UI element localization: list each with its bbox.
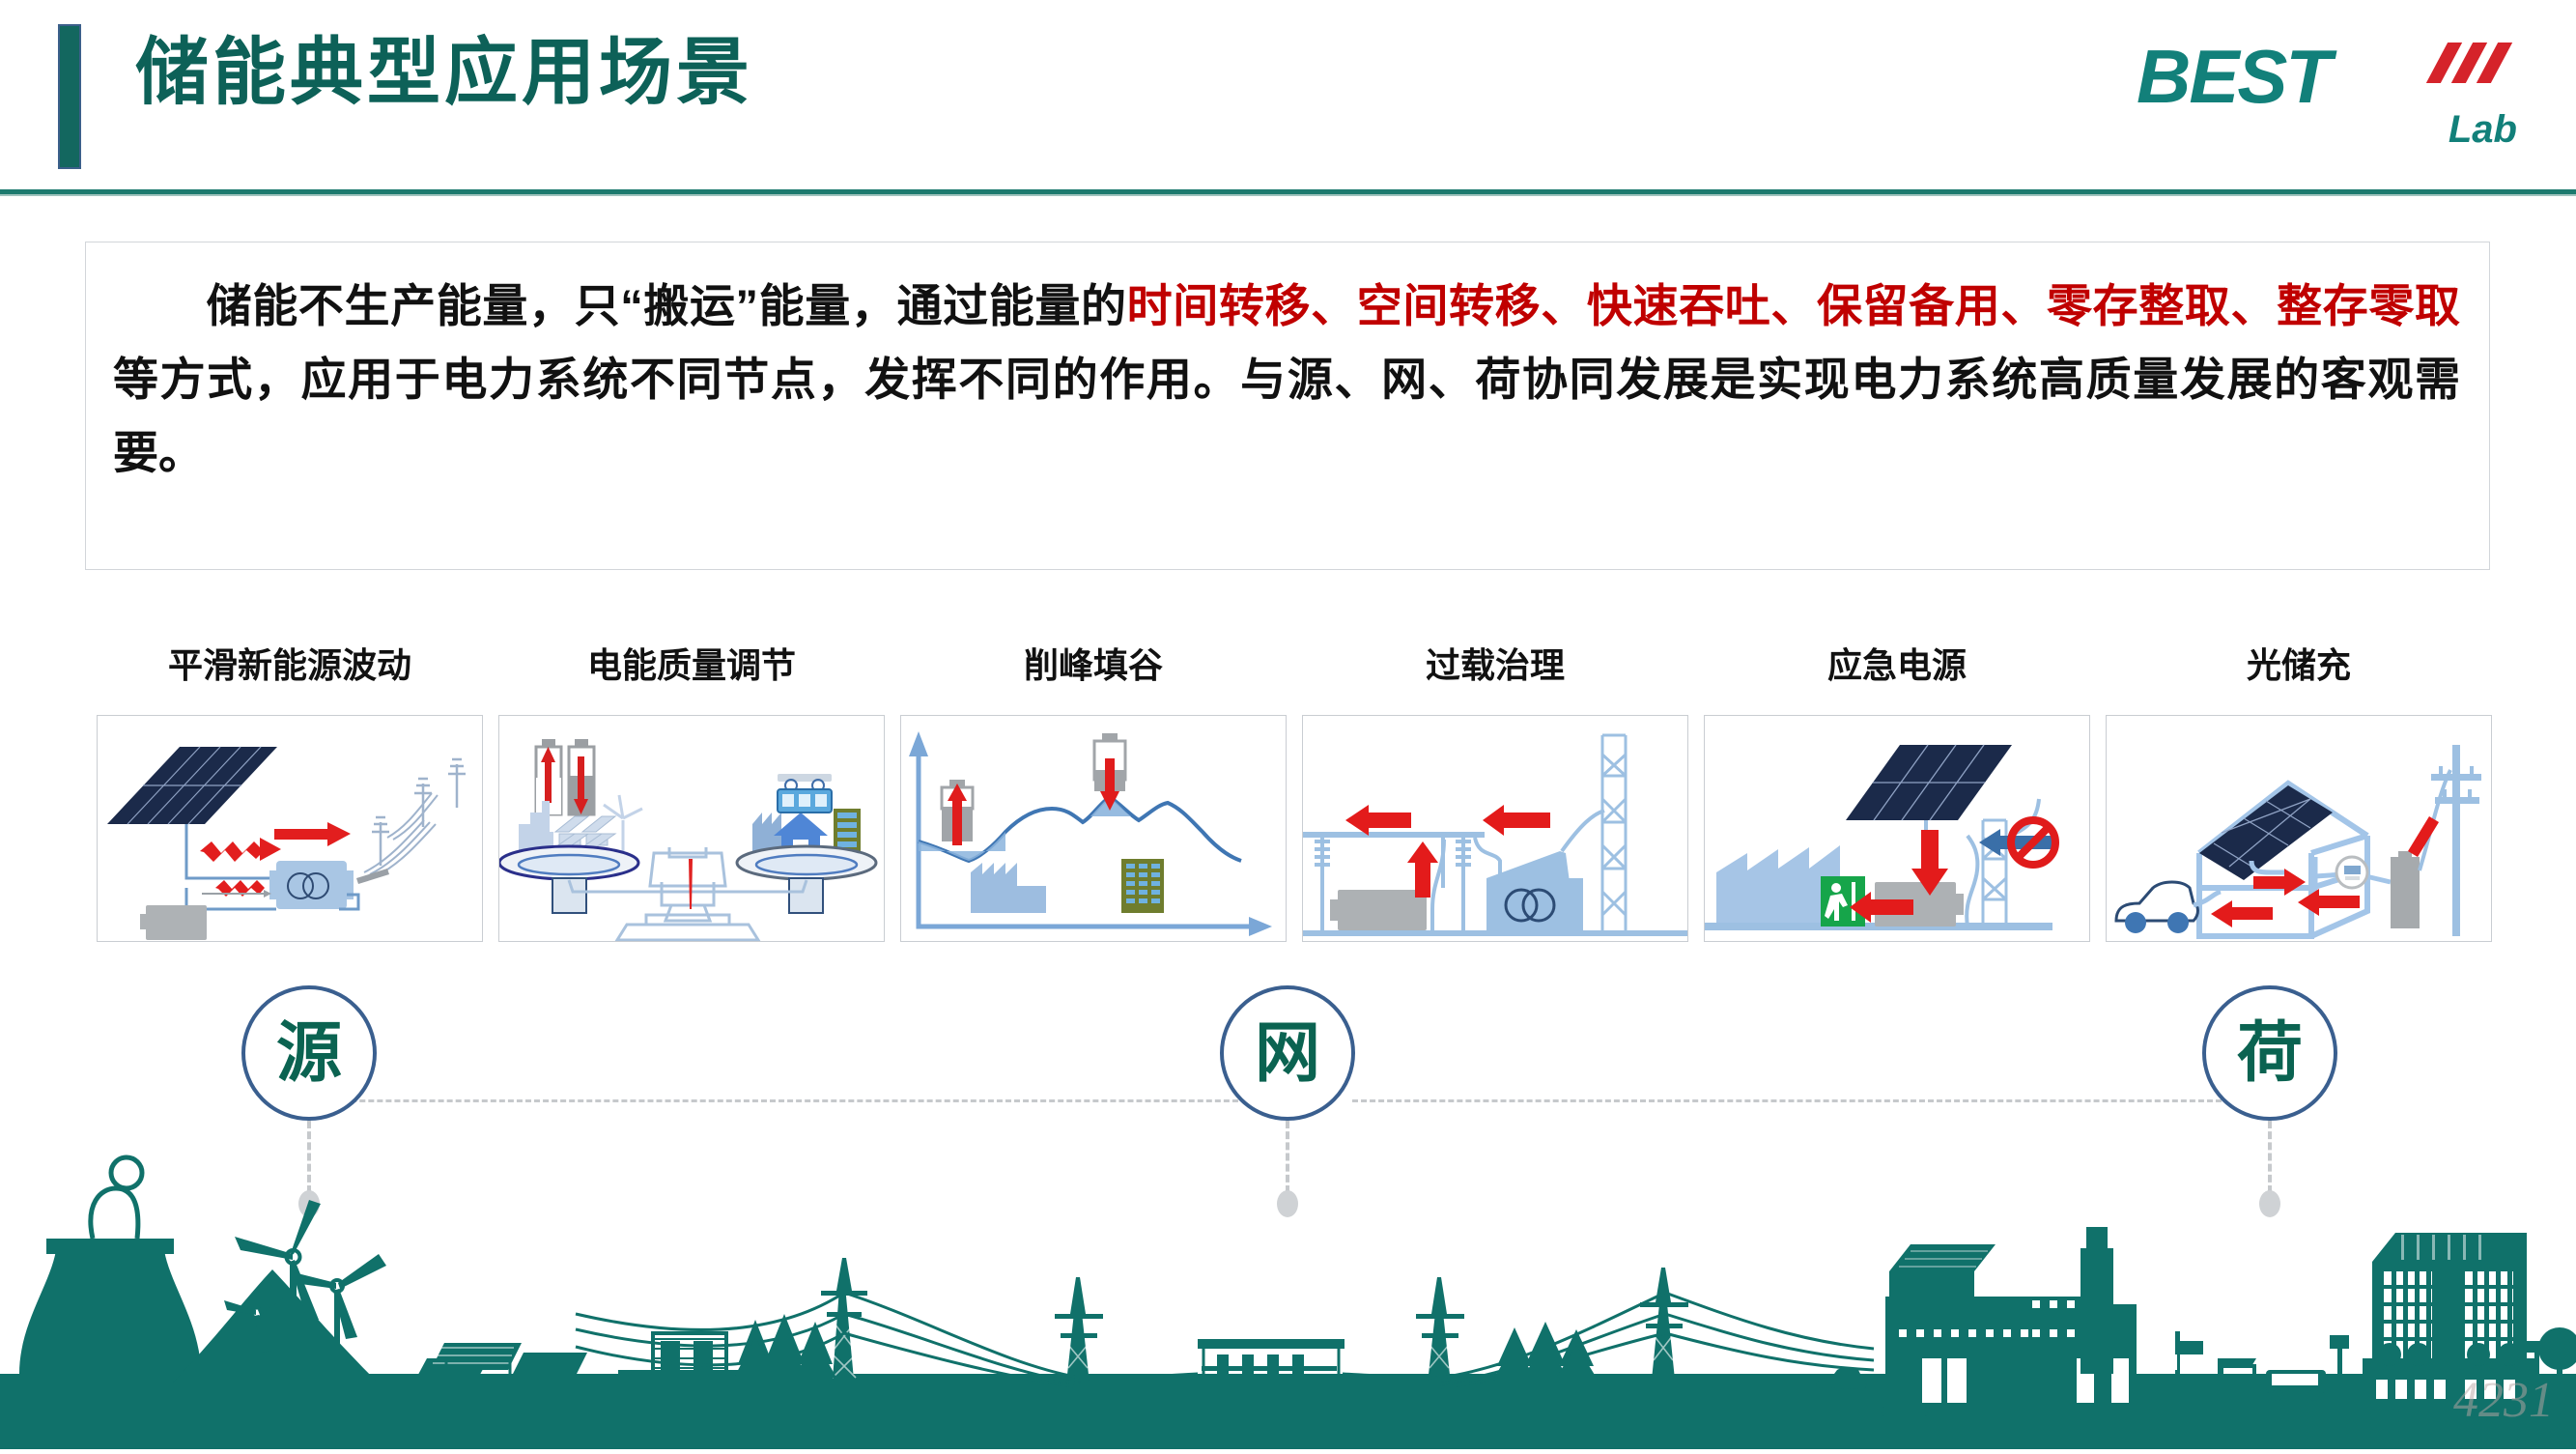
- scenario-card-1[interactable]: [97, 715, 483, 942]
- scenario-card-row: 平滑新能源波动: [0, 638, 2576, 956]
- node-source[interactable]: 源: [241, 985, 377, 1121]
- balance-scale-icon: [499, 716, 885, 942]
- scenario-label-1: 平滑新能源波动: [97, 638, 483, 688]
- scenario-label-3: 削峰填谷: [900, 638, 1287, 688]
- energy-landscape-illustration: 4231: [0, 1130, 2576, 1449]
- node-connector-left: [290, 1099, 1256, 1102]
- node-source-label: 源: [276, 1020, 342, 1086]
- landscape-watermark: 4231: [2453, 1373, 2554, 1428]
- header-divider-light: [0, 194, 2576, 196]
- node-grid[interactable]: 网: [1220, 985, 1355, 1121]
- bestlab-logo: BEST Lab: [2137, 37, 2523, 153]
- summary-paragraph: 储能不生产能量，只“搬运”能量，通过能量的时间转移、空间转移、快速吞吐、保留备用…: [113, 270, 2460, 490]
- scenario-card-6[interactable]: [2106, 715, 2492, 942]
- landscape-svg: 4231: [0, 1130, 2576, 1449]
- substation-overload-icon: [1303, 716, 1688, 942]
- logo-sub-text: Lab: [2449, 110, 2517, 149]
- slide-header: 储能典型应用场景 BEST Lab: [0, 0, 2576, 193]
- logo-brand-text: BEST: [2137, 39, 2330, 114]
- slide: 储能典型应用场景 BEST Lab 储能不生产能量，只“搬运”能量，通过能量的时…: [0, 0, 2576, 1449]
- scenario-label-2: 电能质量调节: [498, 638, 885, 688]
- scenario-card-2[interactable]: [498, 715, 885, 942]
- scenario-label-5: 应急电源: [1704, 638, 2090, 688]
- pv-storage-charging-icon: [2107, 716, 2492, 942]
- title-accent-bar: [58, 24, 81, 169]
- summary-textbox: 储能不生产能量，只“搬运”能量，通过能量的时间转移、空间转移、快速吞吐、保留备用…: [85, 242, 2490, 570]
- page-title: 储能典型应用场景: [135, 37, 753, 110]
- paragraph-segment-2: 等方式，应用于电力系统不同节点，发挥不同的作用。与源、网、荷协同发展是实现电力系…: [113, 354, 2460, 478]
- node-load-label: 荷: [2237, 1020, 2303, 1086]
- scenario-label-6: 光储充: [2106, 638, 2492, 688]
- node-grid-label: 网: [1255, 1020, 1320, 1086]
- emergency-power-icon: [1705, 716, 2090, 942]
- node-connector-right: [1352, 1099, 2222, 1102]
- peak-shaving-curve-icon: [901, 716, 1287, 942]
- scenario-card-5[interactable]: [1704, 715, 2090, 942]
- scenario-card-4[interactable]: [1302, 715, 1688, 942]
- scenario-card-3[interactable]: [900, 715, 1287, 942]
- node-load[interactable]: 荷: [2202, 985, 2337, 1121]
- paragraph-emphasis: 时间转移、空间转移、快速吞吐、保留备用、零存整取、整存零取: [1127, 280, 2460, 331]
- scenario-label-4: 过载治理: [1302, 638, 1688, 688]
- solar-smoothing-icon: [98, 716, 483, 942]
- paragraph-segment-1: 储能不生产能量，只“搬运”能量，通过能量的: [206, 280, 1127, 331]
